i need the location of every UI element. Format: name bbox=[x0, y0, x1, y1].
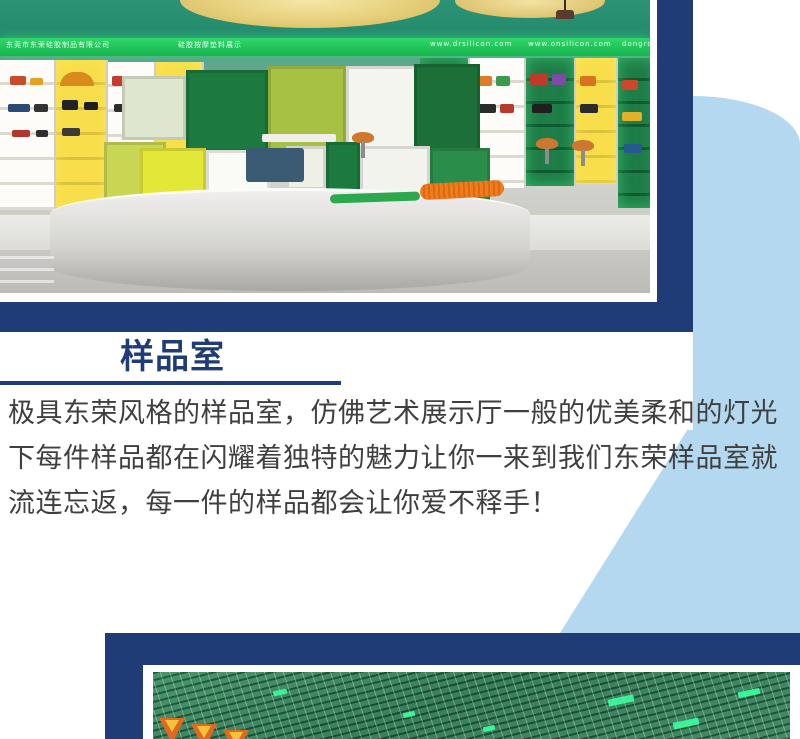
showroom-table bbox=[262, 134, 336, 142]
pendant-lamp bbox=[556, 10, 574, 19]
display-cube bbox=[414, 64, 480, 154]
ceiling-light-accent bbox=[608, 694, 635, 706]
bunting-flag bbox=[159, 718, 185, 739]
promo-page: 东莞市东荣硅胶制品有限公司 硅胶按摩垫料展示 www.drsilicon.com… bbox=[0, 0, 800, 739]
display-product bbox=[580, 76, 596, 86]
display-product bbox=[84, 102, 98, 110]
bar-stool bbox=[536, 138, 558, 164]
display-product bbox=[12, 130, 30, 137]
glass-shelf bbox=[0, 280, 54, 283]
display-product bbox=[8, 104, 30, 112]
mesh-ceiling-photo bbox=[153, 672, 790, 739]
bar-stool bbox=[352, 132, 374, 158]
display-product bbox=[530, 74, 548, 85]
showroom-photo: 东莞市东荣硅胶制品有限公司 硅胶按摩垫料展示 www.drsilicon.com… bbox=[0, 0, 650, 293]
display-product bbox=[624, 144, 642, 153]
bar-stool bbox=[572, 140, 594, 166]
ceiling-light-accent bbox=[673, 717, 700, 729]
ceiling-light-accent bbox=[273, 689, 288, 697]
showroom-photo-frame: 东莞市东荣硅胶制品有限公司 硅胶按摩垫料展示 www.drsilicon.com… bbox=[0, 0, 657, 302]
display-product bbox=[62, 128, 80, 136]
navy-vertical-block bbox=[657, 0, 693, 302]
display-product bbox=[622, 80, 638, 90]
sign-text: 东莞市东荣硅胶制品有限公司 bbox=[6, 40, 110, 50]
sign-text: www.onsilicon.com bbox=[528, 40, 612, 48]
display-product bbox=[10, 76, 26, 85]
circular-podium bbox=[50, 188, 530, 291]
section-title-wrap: 样品室 bbox=[0, 336, 345, 378]
display-product bbox=[496, 76, 510, 86]
ceiling-light-accent bbox=[483, 725, 496, 732]
showroom-sofa bbox=[246, 148, 304, 182]
ceiling-light-accent bbox=[403, 711, 416, 718]
display-product bbox=[30, 78, 43, 85]
ceiling-light-accent bbox=[738, 688, 761, 698]
display-product bbox=[500, 104, 514, 113]
bunting-flag bbox=[191, 724, 217, 739]
sign-text: dongrong bbox=[622, 40, 650, 48]
bunting-flag bbox=[223, 730, 249, 739]
sign-text: www.drsilicon.com bbox=[430, 40, 512, 48]
display-product bbox=[580, 104, 598, 113]
glass-shelf bbox=[0, 256, 54, 259]
mesh-ceiling-photo-frame bbox=[143, 665, 800, 739]
body-paragraph: 极具东荣风格的样品室，仿佛艺术展示厅一般的优美柔和的灯光下每件样品都在闪耀着独特… bbox=[8, 391, 778, 526]
display-product bbox=[532, 104, 552, 113]
sign-text: 硅胶按摩垫料展示 bbox=[178, 40, 242, 50]
title-underline-rule bbox=[0, 381, 341, 385]
section-title: 样品室 bbox=[0, 336, 345, 378]
glass-shelf bbox=[0, 268, 54, 271]
display-cube bbox=[122, 76, 186, 140]
display-cube bbox=[186, 70, 268, 152]
display-product bbox=[622, 112, 642, 121]
navy-divider-bar-upper bbox=[0, 302, 693, 332]
display-product bbox=[62, 100, 78, 110]
display-product bbox=[36, 130, 48, 137]
display-product bbox=[552, 74, 566, 85]
display-product bbox=[34, 104, 48, 112]
orange-product-mat bbox=[420, 180, 505, 200]
display-product bbox=[478, 104, 496, 113]
